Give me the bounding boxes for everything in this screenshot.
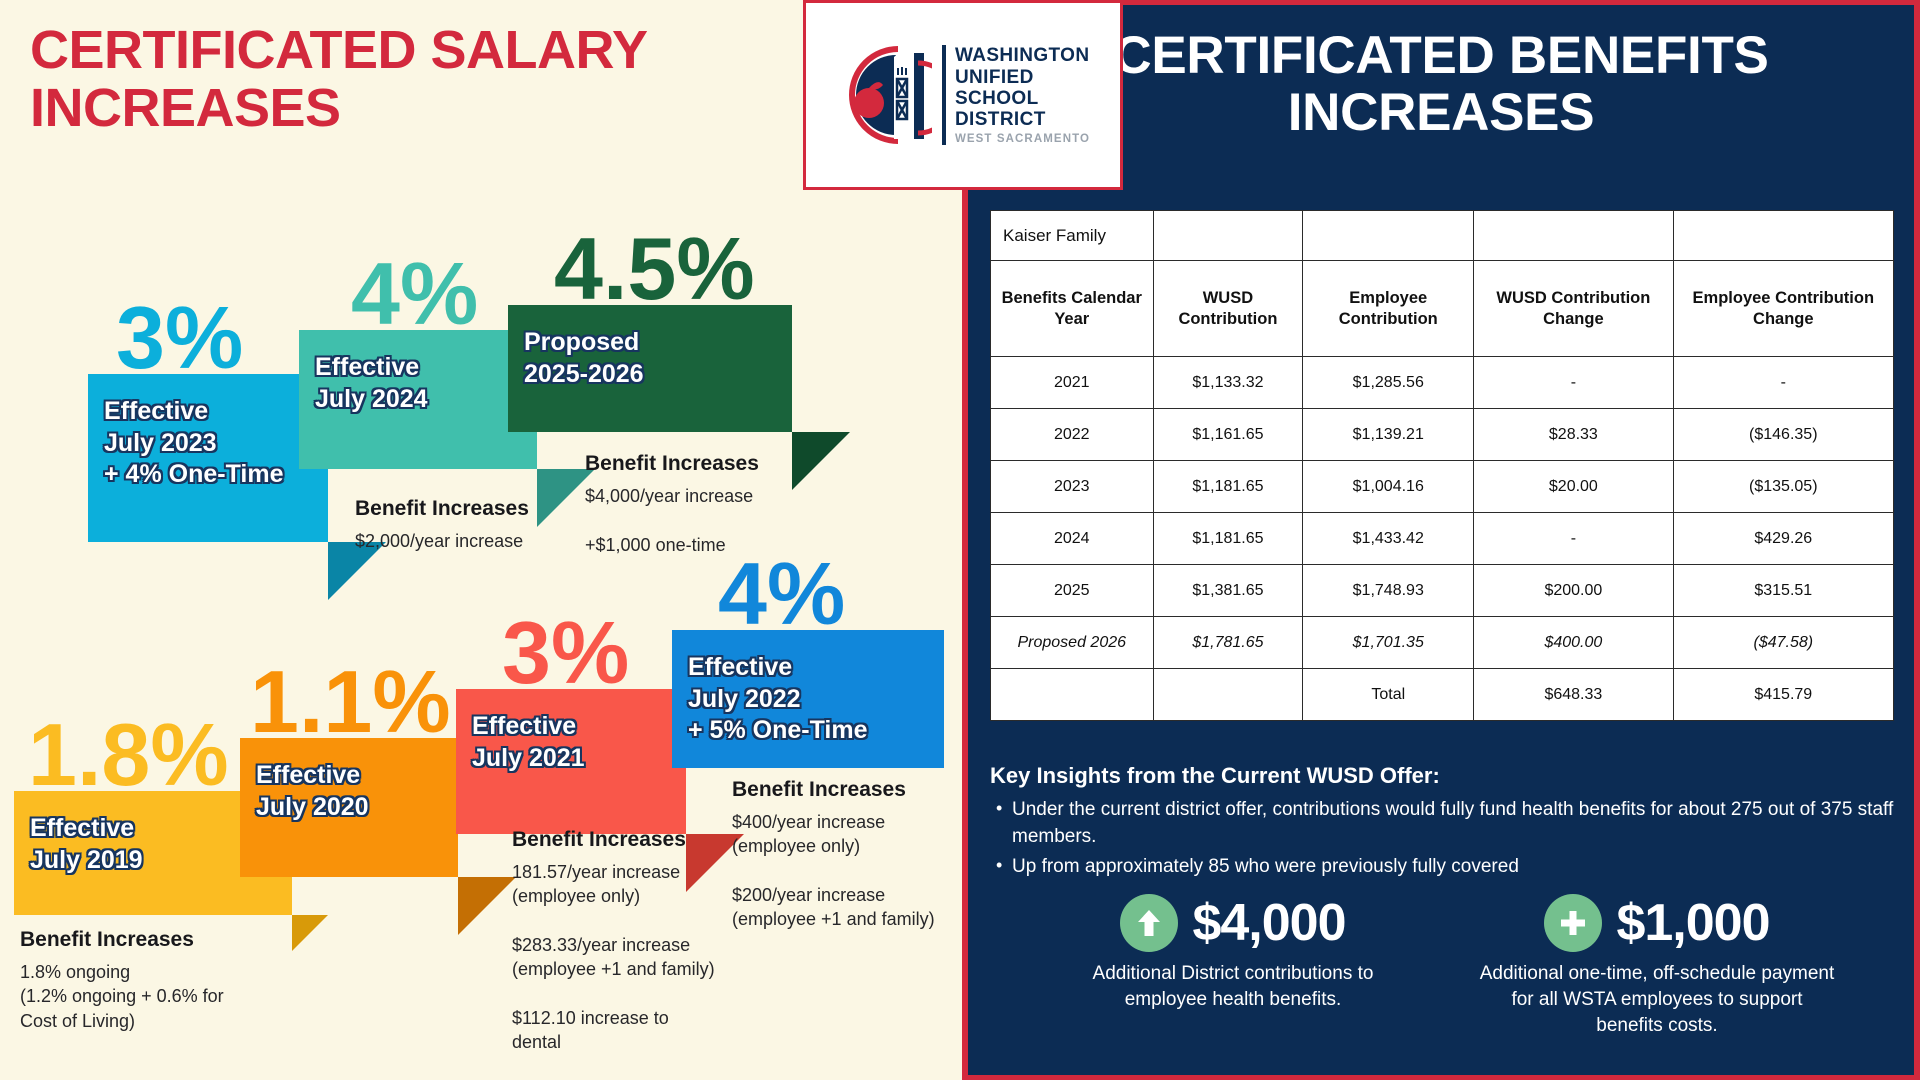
step-percent-2019: 1.8% — [28, 713, 229, 797]
callout-additional-district: $4,000 Additional District contributions… — [1053, 893, 1413, 1040]
logo-divider — [942, 45, 946, 145]
step-percent-2022: 4% — [718, 552, 845, 636]
cell-employee-contribution: $1,285.56 — [1303, 357, 1474, 409]
callout-description: Additional District contributions to emp… — [1053, 961, 1413, 1013]
wusd-logo-text: WASHINGTON UNIFIED SCHOOL DISTRICT WEST … — [942, 45, 1090, 145]
callout-one-time-payment: $1,000 Additional one-time, off-schedule… — [1477, 893, 1837, 1040]
logo-name-lines: WASHINGTON UNIFIED SCHOOL DISTRICT — [955, 45, 1090, 131]
step-percent-2021: 3% — [502, 611, 629, 695]
logo-line-2: UNIFIED — [955, 67, 1090, 88]
cell-year: Proposed 2026 — [991, 617, 1154, 669]
cell-total-wusd-change: $648.33 — [1474, 669, 1673, 721]
cell-wusd-change: - — [1474, 357, 1673, 409]
logo-subtitle: WEST SACRAMENTO — [955, 133, 1090, 145]
caption-2021: Benefit Increases $400/year increase (em… — [732, 778, 972, 931]
table-row: 2025 $1,381.65 $1,748.93 $200.00 $315.51 — [991, 565, 1894, 617]
step-block-2021: 3% Effective July 2021 — [456, 689, 686, 834]
step-block-2023: 3% Effective July 2023 + 4% One-Time — [88, 374, 328, 542]
caption-2023: Benefit Increases $2,000/year increase — [355, 497, 565, 553]
callout-top: $1,000 — [1477, 893, 1837, 953]
table-row: 2022 $1,161.65 $1,139.21 $28.33 ($146.35… — [991, 409, 1894, 461]
col-header-wusd-contribution: WUSD Contribution — [1153, 261, 1303, 357]
cell-wusd-change: - — [1474, 513, 1673, 565]
caption-2019: Benefit Increases 1.8% ongoing (1.2% ong… — [20, 928, 300, 1033]
plan-blank-3 — [1474, 211, 1673, 261]
cell-employee-contribution: $1,701.35 — [1303, 617, 1474, 669]
cell-employee-contribution: $1,004.16 — [1303, 461, 1474, 513]
col-header-employee-change: Employee Contribution Change — [1673, 261, 1893, 357]
step-label-2020: Effective July 2020 — [256, 760, 444, 823]
table-row-proposed: Proposed 2026 $1,781.65 $1,701.35 $400.0… — [991, 617, 1894, 669]
table-row-total: Total $648.33 $415.79 — [991, 669, 1894, 721]
step-label-proposed: Proposed 2025-2026 — [524, 327, 778, 390]
callout-description: Additional one-time, off-schedule paymen… — [1477, 961, 1837, 1040]
caption-heading-2021: Benefit Increases — [732, 778, 972, 802]
step-percent-proposed: 4.5% — [554, 227, 755, 311]
step-block-2022: 4% Effective July 2022 + 5% One-Time — [672, 630, 944, 768]
plan-blank-4 — [1673, 211, 1893, 261]
cell-employee-change: ($146.35) — [1673, 409, 1893, 461]
step-label-2023: Effective July 2023 + 4% One-Time — [104, 396, 314, 491]
wusd-logo: WASHINGTON UNIFIED SCHOOL DISTRICT WEST … — [803, 0, 1123, 190]
cell-employee-contribution: $1,748.93 — [1303, 565, 1474, 617]
table-plan-row: Kaiser Family — [991, 211, 1894, 261]
cell-blank-1 — [991, 669, 1154, 721]
table-row: 2021 $1,133.32 $1,285.56 - - — [991, 357, 1894, 409]
step-label-2024: Effective July 2024 — [315, 352, 523, 415]
cell-wusd-contribution: $1,133.32 — [1153, 357, 1303, 409]
cell-employee-change: ($135.05) — [1673, 461, 1893, 513]
cell-employee-change: ($47.58) — [1673, 617, 1893, 669]
col-header-wusd-change: WUSD Contribution Change — [1474, 261, 1673, 357]
plan-label-cell: Kaiser Family — [991, 211, 1154, 261]
cell-total-label: Total — [1303, 669, 1474, 721]
step-label-2021: Effective July 2021 — [472, 711, 672, 774]
step-label-2022: Effective July 2022 + 5% One-Time — [688, 652, 930, 747]
callout-top: $4,000 — [1053, 893, 1413, 953]
cell-wusd-contribution: $1,181.65 — [1153, 513, 1303, 565]
step-percent-2023: 3% — [116, 296, 243, 380]
logo-line-3: SCHOOL — [955, 88, 1090, 109]
logo-line-1: WASHINGTON — [955, 45, 1090, 66]
cell-total-employee-change: $415.79 — [1673, 669, 1893, 721]
wusd-logo-mark — [836, 43, 932, 147]
cell-year: 2023 — [991, 461, 1154, 513]
cell-employee-change: $315.51 — [1673, 565, 1893, 617]
cell-year: 2024 — [991, 513, 1154, 565]
key-insights-section: Key Insights from the Current WUSD Offer… — [990, 763, 1900, 884]
cell-employee-contribution: $1,139.21 — [1303, 409, 1474, 461]
step-block-2024: 4% Effective July 2024 — [299, 330, 537, 469]
cell-wusd-change: $20.00 — [1474, 461, 1673, 513]
caption-heading-2023: Benefit Increases — [355, 497, 565, 521]
cell-wusd-contribution: $1,381.65 — [1153, 565, 1303, 617]
caption-heading-2024: Benefit Increases — [585, 452, 835, 476]
cell-wusd-contribution: $1,181.65 — [1153, 461, 1303, 513]
cell-wusd-contribution: $1,781.65 — [1153, 617, 1303, 669]
cell-year: 2025 — [991, 565, 1154, 617]
key-insights-heading: Key Insights from the Current WUSD Offer… — [990, 763, 1900, 789]
list-item: Under the current district offer, contri… — [990, 797, 1900, 851]
cell-wusd-change: $28.33 — [1474, 409, 1673, 461]
arrow-up-icon — [1120, 894, 1178, 952]
step-percent-2020: 1.1% — [250, 660, 451, 744]
caption-2024: Benefit Increases $4,000/year increase +… — [585, 452, 835, 557]
callout-amount: $4,000 — [1192, 893, 1345, 953]
col-header-employee-contribution: Employee Contribution — [1303, 261, 1474, 357]
callout-amount: $1,000 — [1616, 893, 1769, 953]
plus-icon — [1544, 894, 1602, 952]
col-header-year: Benefits Calendar Year — [991, 261, 1154, 357]
table-header-row: Benefits Calendar Year WUSD Contribution… — [991, 261, 1894, 357]
callouts-section: $4,000 Additional District contributions… — [990, 893, 1900, 1040]
cell-employee-change: - — [1673, 357, 1893, 409]
cell-year: 2021 — [991, 357, 1154, 409]
caption-body-2019: 1.8% ongoing (1.2% ongoing + 0.6% for Co… — [20, 960, 300, 1033]
cell-wusd-contribution: $1,161.65 — [1153, 409, 1303, 461]
caption-heading-2019: Benefit Increases — [20, 928, 300, 952]
fold-corner-2020 — [458, 877, 516, 935]
cell-wusd-change: $200.00 — [1474, 565, 1673, 617]
step-block-2020: 1.1% Effective July 2020 — [240, 738, 458, 877]
plan-blank-2 — [1303, 211, 1474, 261]
cell-blank-2 — [1153, 669, 1303, 721]
cell-wusd-change: $400.00 — [1474, 617, 1673, 669]
table-row: 2023 $1,181.65 $1,004.16 $20.00 ($135.05… — [991, 461, 1894, 513]
logo-line-4: DISTRICT — [955, 109, 1090, 130]
step-block-proposed-2025: 4.5% Proposed 2025-2026 — [508, 305, 792, 432]
key-insights-list: Under the current district offer, contri… — [990, 797, 1900, 881]
benefits-contribution-table: Kaiser Family Benefits Calendar Year WUS… — [990, 210, 1894, 721]
cell-employee-change: $429.26 — [1673, 513, 1893, 565]
cell-year: 2022 — [991, 409, 1154, 461]
caption-body-2023: $2,000/year increase — [355, 529, 565, 553]
plan-blank-1 — [1153, 211, 1303, 261]
caption-body-2021: $400/year increase (employee only) $200/… — [732, 810, 972, 931]
cell-employee-contribution: $1,433.42 — [1303, 513, 1474, 565]
step-percent-2024: 4% — [351, 252, 478, 336]
table-row: 2024 $1,181.65 $1,433.42 - $429.26 — [991, 513, 1894, 565]
list-item: Up from approximately 85 who were previo… — [990, 854, 1900, 881]
